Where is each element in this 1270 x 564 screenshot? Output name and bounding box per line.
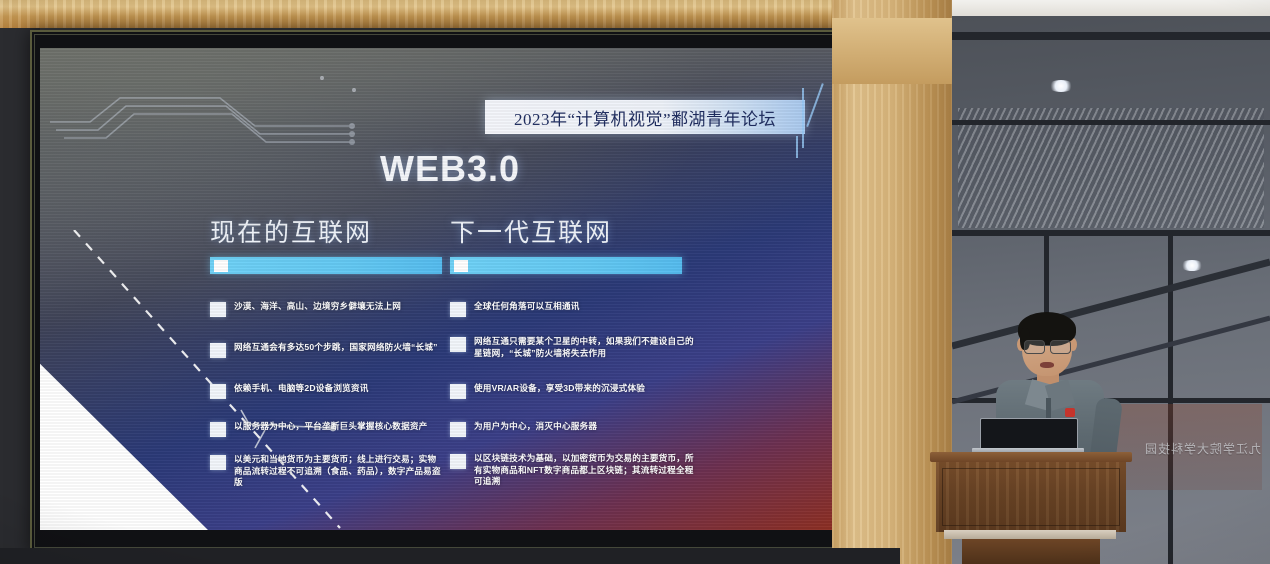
podium-base (962, 539, 1100, 564)
podium-skirt (944, 530, 1116, 539)
wood-ceiling-panel (0, 0, 900, 30)
podium-top (930, 452, 1132, 462)
downlight-reflection (1048, 80, 1074, 92)
window-mullion (952, 120, 1270, 125)
presentation-slide: 2023年“计算机视觉”鄱湖青年论坛 WEB3.0 现在的互联网 下一代互联网 … (40, 48, 840, 530)
window-head-rail (952, 32, 1270, 40)
floor-shadow (0, 548, 900, 564)
wood-column (832, 0, 952, 564)
wood-frame-top (832, 18, 952, 84)
podium-body (936, 462, 1126, 532)
glasses-icon (1024, 340, 1071, 352)
projection-scanlines (40, 48, 840, 530)
wall-sign-text: 九江学院大学科技园 (1140, 432, 1265, 464)
lapel-badge (1065, 408, 1075, 417)
ceiling-reflection (958, 108, 1264, 228)
conference-room-photo: 2023年“计算机视觉”鄱湖青年论坛 WEB3.0 现在的互联网 下一代互联网 … (0, 0, 1270, 564)
glasses-bridge (1043, 345, 1050, 346)
laptop-screen (980, 418, 1078, 452)
glasses-lens (1024, 340, 1045, 354)
speaker-mouth (1040, 362, 1054, 368)
glasses-lens (1050, 340, 1071, 354)
